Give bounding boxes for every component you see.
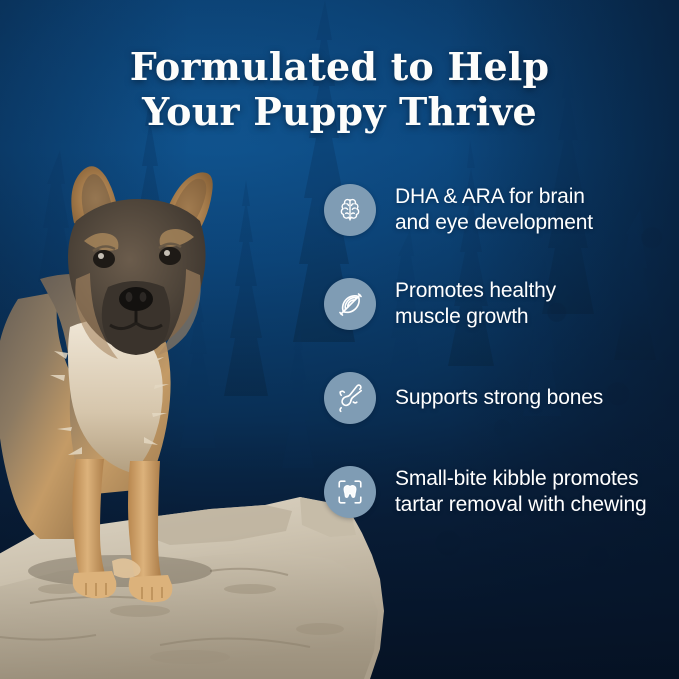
puppy-head <box>68 166 213 359</box>
feature-label: DHA & ARA for brain and eye development <box>395 184 593 236</box>
feature-label: Small-bite kibble promotes tartar remova… <box>395 466 647 518</box>
tooth-scan-icon <box>324 466 376 518</box>
page-title: Formulated to Help Your Puppy Thrive <box>0 44 679 134</box>
bone-joint-icon <box>324 372 376 424</box>
feature-label: Promotes healthy muscle growth <box>395 278 556 330</box>
feature-item-bones: Supports strong bones <box>324 372 669 424</box>
nose <box>119 287 153 311</box>
marketing-banner: Formulated to Help Your Puppy Thrive DHA… <box>0 0 679 679</box>
feature-list: DHA & ARA for brain and eye development … <box>324 184 669 518</box>
feature-label: Supports strong bones <box>395 385 603 411</box>
feature-item-muscle: Promotes healthy muscle growth <box>324 278 669 330</box>
feature-item-dha-ara: DHA & ARA for brain and eye development <box>324 184 669 236</box>
front-leg-left <box>72 459 106 577</box>
brain-icon <box>324 184 376 236</box>
feature-item-kibble: Small-bite kibble promotes tartar remova… <box>324 466 669 518</box>
muscle-icon <box>324 278 376 330</box>
